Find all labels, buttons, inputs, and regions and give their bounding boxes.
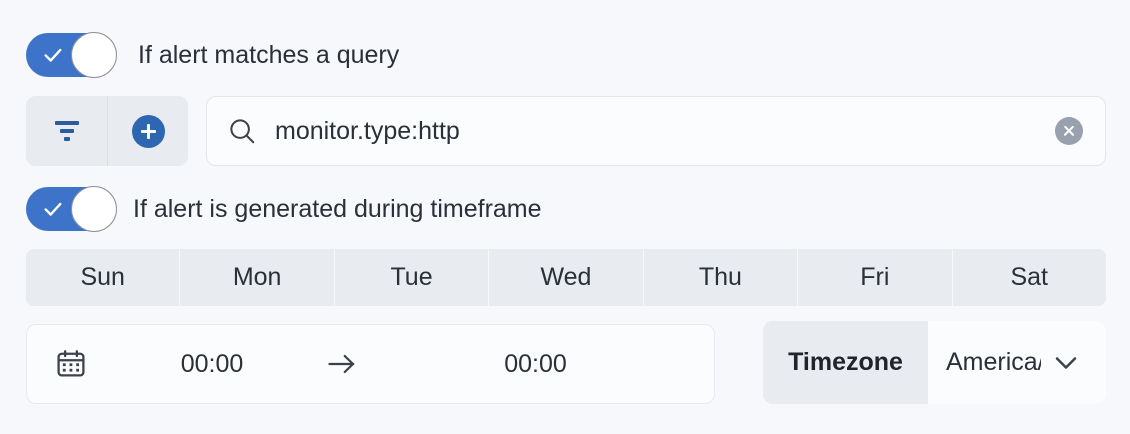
filter-button-group — [26, 96, 188, 166]
timeframe-condition-label: If alert is generated during timeframe — [133, 195, 542, 224]
query-search-box[interactable]: monitor.type:http — [206, 96, 1106, 166]
check-icon — [42, 198, 64, 220]
timezone-control: Timezone America/ — [763, 321, 1106, 404]
start-time-value[interactable]: 00:00 — [97, 350, 327, 379]
day-button-fri[interactable]: Fri — [797, 249, 951, 306]
toggle-knob — [71, 186, 117, 232]
day-button-sat[interactable]: Sat — [952, 249, 1106, 306]
query-condition-label: If alert matches a query — [138, 41, 399, 70]
calendar-icon — [55, 348, 87, 380]
close-circle-icon[interactable] — [1055, 117, 1083, 145]
timezone-label: Timezone — [763, 321, 928, 404]
day-button-wed[interactable]: Wed — [488, 249, 642, 306]
toggle-knob — [71, 32, 117, 78]
add-filter-button[interactable] — [107, 96, 188, 166]
timezone-select[interactable]: America/ — [928, 321, 1106, 404]
filter-funnel-icon — [55, 121, 79, 141]
query-condition-row: If alert matches a query — [26, 33, 399, 77]
query-search-input[interactable]: monitor.type:http — [275, 117, 1055, 146]
alert-conditions-panel: If alert matches a query monitor.type:ht… — [0, 0, 1130, 434]
end-time-value[interactable]: 00:00 — [357, 350, 714, 379]
check-icon — [42, 44, 64, 66]
day-button-thu[interactable]: Thu — [643, 249, 797, 306]
timeframe-condition-row: If alert is generated during timeframe — [26, 187, 542, 231]
query-condition-toggle[interactable] — [26, 33, 116, 77]
time-range-picker[interactable]: 00:00 00:00 — [26, 324, 715, 404]
plus-circle-icon — [132, 115, 165, 148]
day-of-week-selector: Sun Mon Tue Wed Thu Fri Sat — [26, 249, 1106, 306]
arrow-right-icon — [327, 351, 357, 377]
chevron-down-icon — [1051, 354, 1081, 372]
day-button-tue[interactable]: Tue — [334, 249, 488, 306]
timezone-value: America/ — [946, 348, 1041, 377]
timeframe-condition-toggle[interactable] — [26, 187, 116, 231]
search-icon — [227, 116, 257, 146]
day-button-mon[interactable]: Mon — [179, 249, 333, 306]
day-button-sun[interactable]: Sun — [26, 249, 179, 306]
filter-button[interactable] — [26, 96, 107, 166]
